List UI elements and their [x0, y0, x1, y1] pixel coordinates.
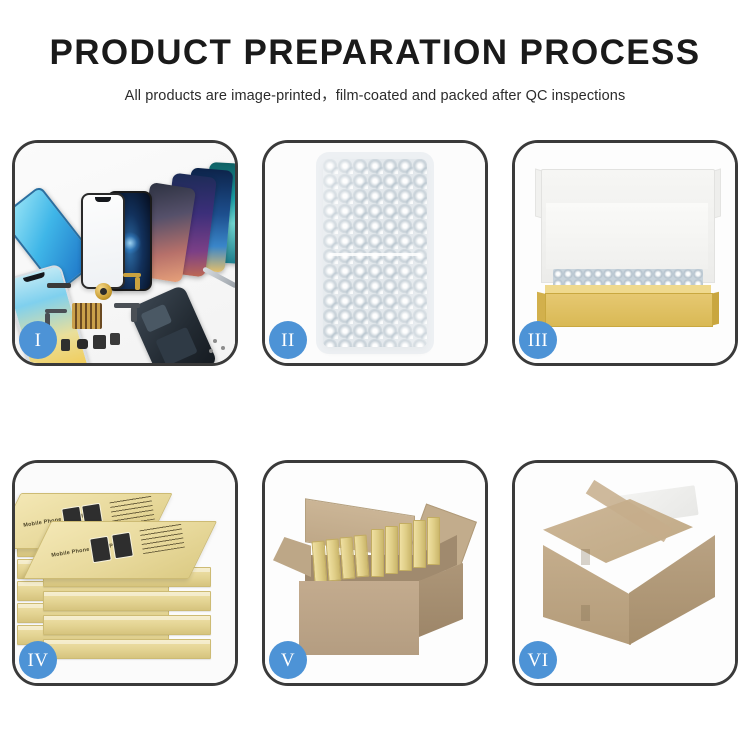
step-card-3: III [512, 140, 738, 366]
phone-print-icon [89, 536, 112, 564]
step-card-1: I [12, 140, 238, 366]
box-inner-wall [546, 203, 708, 269]
step-badge-3: III [519, 321, 557, 359]
retail-box-in-carton-icon [413, 520, 426, 568]
retail-box-in-carton-icon [371, 529, 384, 577]
retail-box-in-carton-icon [399, 523, 412, 571]
retail-box-icon [43, 591, 211, 611]
part-chip-icon [77, 339, 88, 349]
product-preparation-infographic: PRODUCT PREPARATION PROCESS All products… [0, 0, 750, 750]
screw-icon [209, 349, 213, 353]
bubble-wrap-package-icon [323, 159, 427, 347]
step-panel-border: III [512, 140, 738, 366]
header: PRODUCT PREPARATION PROCESS All products… [0, 0, 750, 120]
step-panel-border: Mobile Phone Spare Parts Mobile Phone Sp… [12, 460, 238, 686]
screw-icon [213, 339, 217, 343]
page-subtitle: All products are image-printed，film-coat… [0, 84, 750, 105]
step-card-4: Mobile Phone Spare Parts Mobile Phone Sp… [12, 460, 238, 686]
step-panel-border: VI [512, 460, 738, 686]
retail-box-in-carton-icon [385, 526, 398, 574]
tempered-glass-icon [81, 193, 125, 289]
phone-print-icon [111, 532, 134, 560]
speaker-coil-icon [95, 283, 112, 300]
part-chip-icon [61, 339, 70, 351]
part-chip-icon [47, 283, 71, 288]
step-card-5: V [262, 460, 488, 686]
box-front-panel-icon [545, 293, 713, 327]
retail-box-icon [43, 639, 211, 659]
carton-flap-seam [581, 549, 590, 565]
steps-grid: I II [12, 140, 738, 686]
notch-icon [23, 272, 45, 283]
retail-box-icon [43, 615, 211, 635]
step-panel-border: I [12, 140, 238, 366]
step-badge-4: IV [19, 641, 57, 679]
step-badge-6: VI [519, 641, 557, 679]
part-chip-icon [93, 335, 106, 349]
screw-icon [221, 346, 225, 350]
step-panel-border: V [262, 460, 488, 686]
flex-cable-icon [135, 277, 140, 290]
carton-flap-seam [581, 605, 590, 621]
retail-box-in-carton-icon [427, 517, 440, 565]
logic-board-chip-icon [72, 303, 102, 329]
carton-front-panel [299, 581, 419, 655]
flex-cable-icon [131, 307, 137, 322]
step-badge-5: V [269, 641, 307, 679]
notch-icon [95, 197, 111, 202]
page-title: PRODUCT PREPARATION PROCESS [0, 33, 750, 73]
step-badge-2: II [269, 321, 307, 359]
step-badge-1: I [19, 321, 57, 359]
part-chip-icon [110, 333, 120, 345]
step-panel-border: II [262, 140, 488, 366]
step-card-2: II [262, 140, 488, 366]
plastic-sheen [323, 159, 427, 347]
step-card-6: VI [512, 460, 738, 686]
